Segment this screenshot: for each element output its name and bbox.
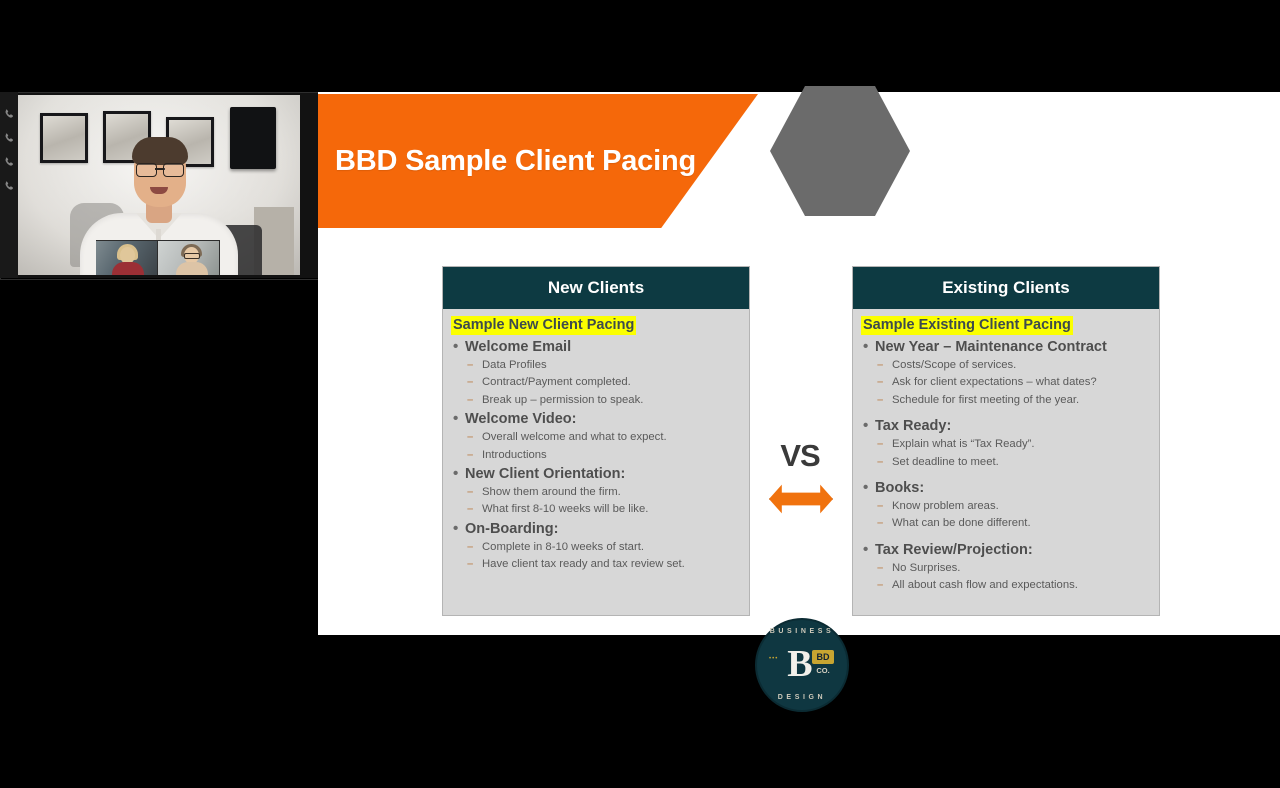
highlight-subtitle: Sample Existing Client Pacing bbox=[861, 316, 1073, 335]
speaker-hair bbox=[132, 137, 188, 165]
presentation-slide: BBD Sample Client Pacing New Clients Sam… bbox=[318, 92, 1280, 635]
vs-label: VS bbox=[748, 438, 852, 474]
highlight-subtitle: Sample New Client Pacing bbox=[451, 316, 636, 335]
list-item: Welcome Video: Overall welcome and what … bbox=[451, 410, 740, 464]
logo-top-text: BUSINESS bbox=[757, 628, 847, 635]
double-arrow-icon bbox=[769, 483, 833, 515]
phone-icon[interactable] bbox=[3, 156, 16, 169]
comparison-columns: New Clients Sample New Client Pacing Wel… bbox=[318, 266, 1280, 626]
sub-list-item: Introductions bbox=[465, 447, 740, 464]
versus-divider: VS BUSINESS DESIGN ••• ••• B BD CO. bbox=[748, 440, 852, 788]
sub-list-item: Show them around the firm. bbox=[465, 484, 740, 501]
participant-tile[interactable] bbox=[158, 241, 220, 275]
column-header-label: New Clients bbox=[548, 278, 644, 298]
group-title: Tax Ready: bbox=[875, 418, 951, 434]
sub-list-item: Ask for client expectations – what dates… bbox=[875, 374, 1150, 391]
slide-title-banner: BBD Sample Client Pacing bbox=[318, 94, 758, 228]
group-title: On-Boarding: bbox=[465, 521, 558, 537]
sub-list-item: Data Profiles bbox=[465, 357, 740, 374]
list-item: Tax Review/Projection: No Surprises. All… bbox=[861, 541, 1150, 595]
participant-thumbnails[interactable] bbox=[96, 240, 220, 275]
existing-clients-column: Existing Clients Sample Existing Client … bbox=[852, 266, 1160, 616]
list-item: Books: Know problem areas. What can be d… bbox=[861, 479, 1150, 533]
logo-bottom-text: DESIGN bbox=[757, 694, 847, 701]
list-item: On-Boarding: Complete in 8-10 weeks of s… bbox=[451, 520, 740, 574]
logo-badge-sub: CO. bbox=[812, 666, 834, 675]
new-clients-column: New Clients Sample New Client Pacing Wel… bbox=[442, 266, 750, 616]
phone-icon[interactable] bbox=[3, 180, 16, 193]
participant-tile[interactable] bbox=[96, 241, 158, 275]
main-speaker-video[interactable] bbox=[18, 95, 300, 275]
sub-list-item: Know problem areas. bbox=[875, 498, 1150, 515]
existing-clients-body: Sample Existing Client Pacing New Year –… bbox=[853, 309, 1159, 604]
sub-list-item: All about cash flow and expectations. bbox=[875, 577, 1150, 594]
phone-icon[interactable] bbox=[3, 108, 16, 121]
sub-list-item: What can be done different. bbox=[875, 515, 1150, 532]
sub-list-item: Contract/Payment completed. bbox=[465, 374, 740, 391]
eyeglasses-icon bbox=[184, 253, 200, 259]
call-controls-rail[interactable] bbox=[0, 92, 18, 278]
video-conference-panel[interactable] bbox=[0, 92, 318, 278]
sub-list-item: Costs/Scope of services. bbox=[875, 357, 1150, 374]
phone-icon[interactable] bbox=[3, 132, 16, 145]
logo-dots-left: ••• bbox=[769, 656, 778, 662]
existing-clients-header: Existing Clients bbox=[853, 267, 1159, 309]
sub-list-item: Complete in 8-10 weeks of start. bbox=[465, 539, 740, 556]
list-item: New Client Orientation: Show them around… bbox=[451, 465, 740, 519]
sub-list-item: Explain what is “Tax Ready”. bbox=[875, 436, 1150, 453]
group-title: Tax Review/Projection: bbox=[875, 542, 1033, 558]
sub-list-item: What first 8-10 weeks will be like. bbox=[465, 501, 740, 518]
screen: BBD Sample Client Pacing New Clients Sam… bbox=[0, 0, 1280, 720]
group-title: Books: bbox=[875, 480, 924, 496]
sub-list-item: Have client tax ready and tax review set… bbox=[465, 556, 740, 573]
eyeglasses-icon bbox=[136, 163, 184, 175]
hexagon-decoration bbox=[770, 86, 910, 216]
column-header-label: Existing Clients bbox=[942, 278, 1070, 298]
sub-list-item: Schedule for first meeting of the year. bbox=[875, 392, 1150, 409]
group-title: Welcome Video: bbox=[465, 411, 576, 427]
group-title: New Year – Maintenance Contract bbox=[875, 339, 1107, 355]
list-item: Welcome Email Data Profiles Contract/Pay… bbox=[451, 338, 740, 409]
group-title: New Client Orientation: bbox=[465, 466, 625, 482]
sub-list-item: Overall welcome and what to expect. bbox=[465, 429, 740, 446]
list-item: Tax Ready: Explain what is “Tax Ready”. … bbox=[861, 417, 1150, 471]
bbd-logo: BUSINESS DESIGN ••• ••• B BD CO. bbox=[755, 618, 849, 712]
sub-list-item: No Surprises. bbox=[875, 560, 1150, 577]
new-clients-body: Sample New Client Pacing Welcome Email D… bbox=[443, 309, 749, 583]
sub-list-item: Set deadline to meet. bbox=[875, 454, 1150, 471]
new-clients-header: New Clients bbox=[443, 267, 749, 309]
sub-list-item: Break up – permission to speak. bbox=[465, 392, 740, 409]
page-title: BBD Sample Client Pacing bbox=[318, 145, 696, 178]
list-item: New Year – Maintenance Contract Costs/Sc… bbox=[861, 338, 1150, 409]
group-title: Welcome Email bbox=[465, 339, 571, 355]
logo-badge: BD bbox=[812, 650, 834, 664]
logo-letter: B bbox=[787, 645, 812, 683]
